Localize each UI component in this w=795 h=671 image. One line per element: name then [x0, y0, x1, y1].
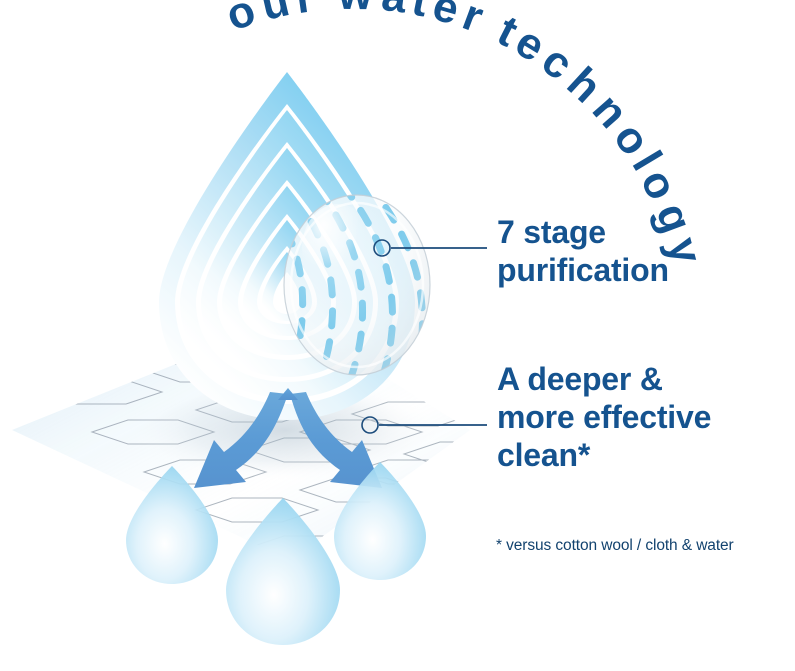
absorbed-droplets [126, 462, 426, 645]
page-title: our water technology [0, 0, 795, 260]
droplet-shadow [130, 378, 440, 482]
hexagonal-skin-mesh [12, 318, 526, 560]
page-title-char: r [292, 0, 316, 24]
callout-leaders [362, 240, 487, 433]
callout-marker-deeper-clean [362, 417, 487, 433]
page-title-char: o [220, 0, 262, 42]
page-title-char [316, 0, 332, 22]
callout-label-seven-stage: 7 stage purification [497, 214, 669, 290]
callout-label-deeper-clean: A deeper & more effective clean* [497, 361, 711, 474]
page-title-char: w [338, 0, 373, 20]
footnote-text: * versus cotton wool / cloth & water [496, 537, 734, 555]
infographic-canvas: our water technology 7 stage purificatio… [0, 0, 795, 671]
diverging-arrows [194, 388, 382, 488]
page-title-char: a [379, 0, 409, 24]
page-title-char: u [256, 0, 293, 31]
